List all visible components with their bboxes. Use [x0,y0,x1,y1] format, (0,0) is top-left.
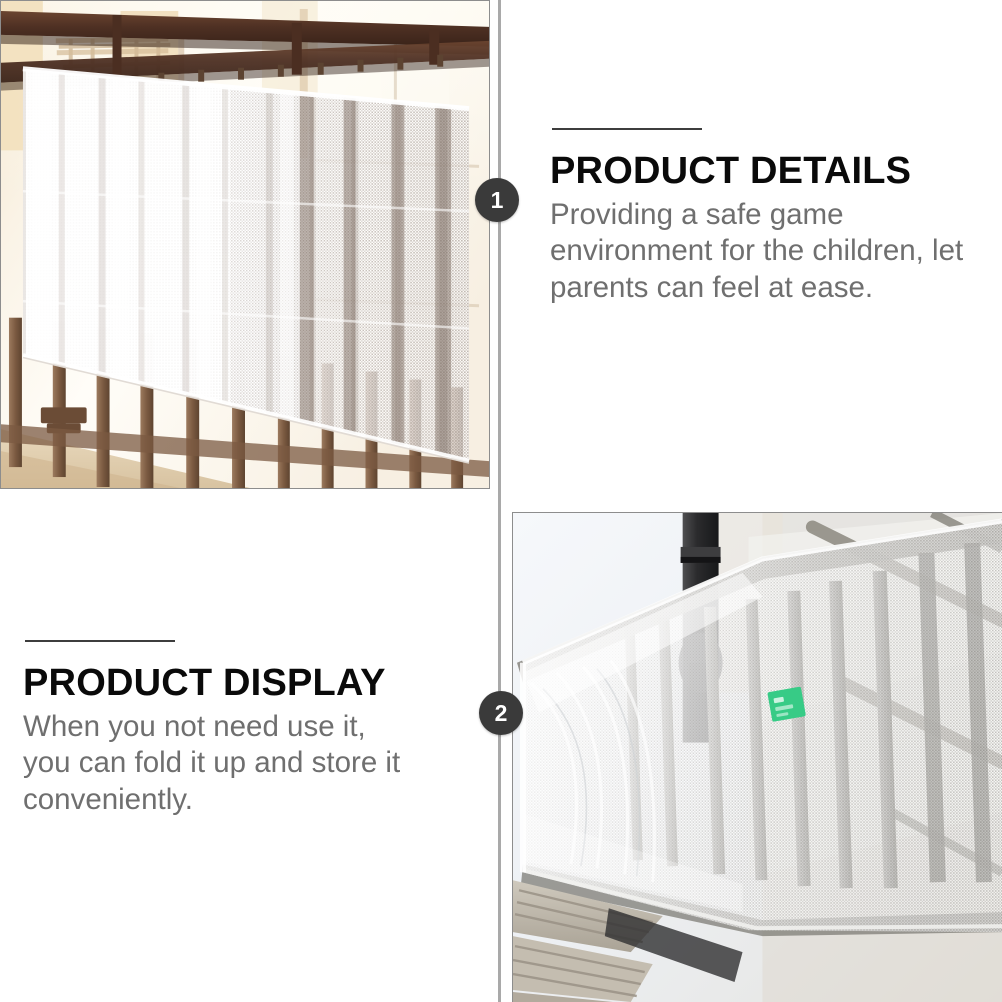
section-2-title: PRODUCT DISPLAY [23,664,443,703]
section-2-text: PRODUCT DISPLAY When you not need use it… [23,640,443,818]
balcony-railing-illustration [1,1,489,488]
product-photo-top-left [0,0,490,489]
green-tag [767,687,806,722]
product-photo-bottom-right [512,512,1002,1002]
section-1-body-line: Providing a safe game [550,197,950,234]
section-1-title: PRODUCT DETAILS [550,152,950,191]
section-2-body: When you not need use it, you can fold i… [23,709,443,819]
section-2-body-line: When you not need use it, [23,709,443,746]
section-1-body-line: parents can feel at ease. [550,270,950,307]
product-infographic: 1 PRODUCT DETAILS Providing a safe game … [0,0,1002,1002]
section-2-rule [25,640,175,642]
stair-railing-net-illustration [513,513,1002,1002]
step-badge-1: 1 [475,178,519,222]
section-1-text: PRODUCT DETAILS Providing a safe game en… [550,128,950,306]
step-badge-2: 2 [479,691,523,735]
section-1-body: Providing a safe game environment for th… [550,197,950,307]
section-1-body-line: environment for the children, let [550,233,950,270]
section-2-body-line: you can fold it up and store it [23,745,443,782]
section-2-body-line: conveniently. [23,782,443,819]
section-1-rule [552,128,702,130]
vertical-divider-line [498,0,501,1002]
